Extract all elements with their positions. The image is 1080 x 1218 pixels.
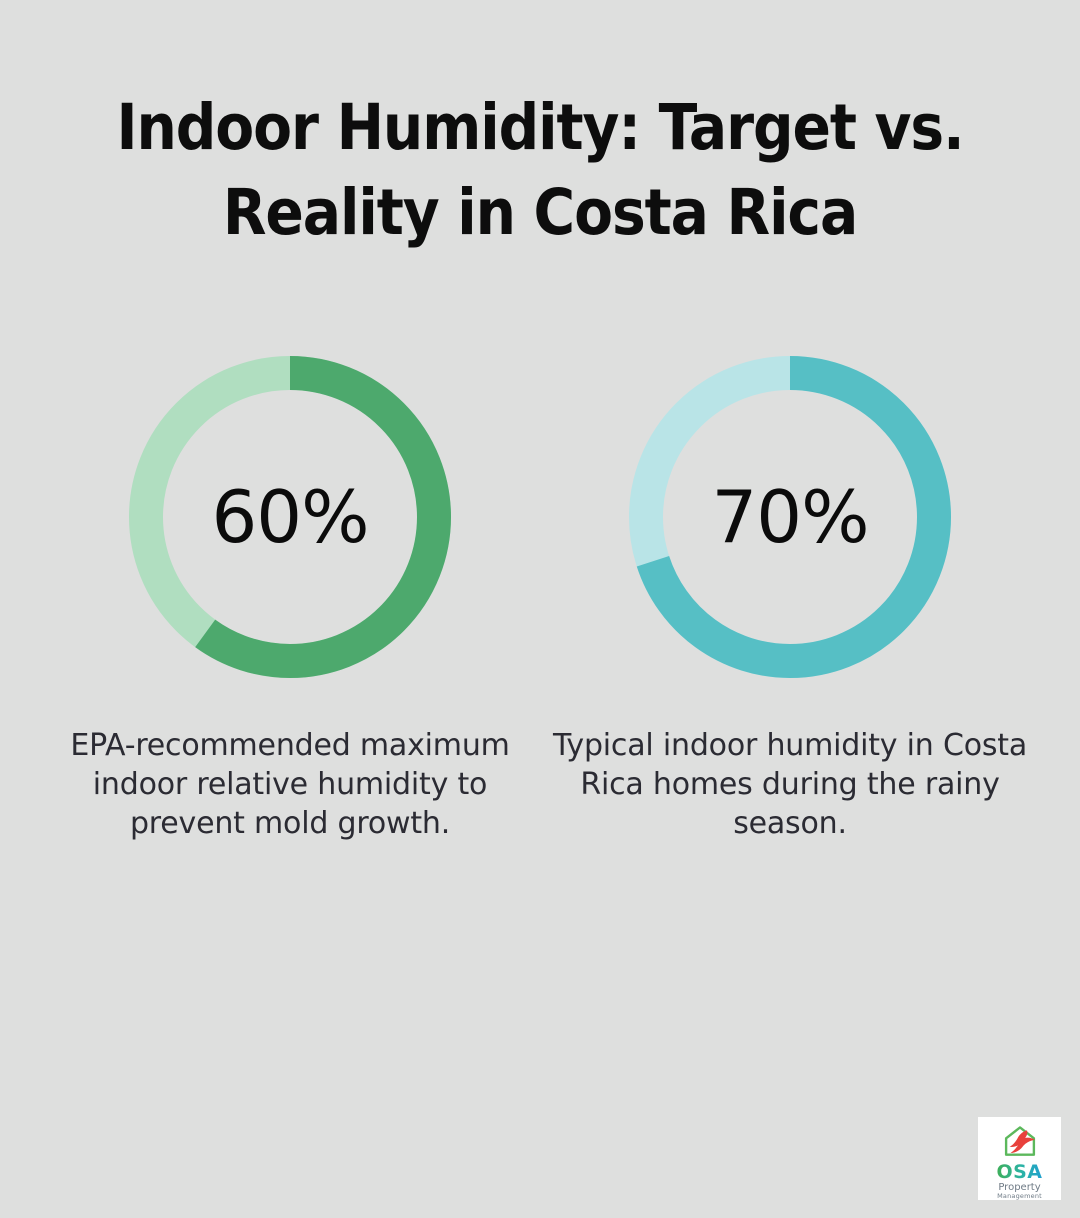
infographic-canvas: Indoor Humidity: Target vs. Reality in C…	[0, 0, 1080, 1218]
donut-chart-60: 60%	[125, 352, 455, 682]
donut-value-70: 70%	[625, 352, 955, 682]
page-title-line-2: Reality in Costa Rica	[90, 181, 990, 244]
stats-row: 60% EPA-recommended maximum indoor relat…	[0, 352, 1080, 843]
stat-caption-typical: Typical indoor humidity in Costa Rica ho…	[550, 726, 1030, 843]
bird-house-logo-icon	[997, 1122, 1043, 1162]
osa-property-management-logo: OSA Property Management	[978, 1117, 1061, 1200]
stat-caption-epa: EPA-recommended maximum indoor relative …	[60, 726, 520, 843]
logo-tagline-line-2: Management	[997, 1193, 1042, 1200]
logo-wordmark: OSA	[996, 1163, 1042, 1182]
donut-chart-70: 70%	[625, 352, 955, 682]
stat-card-epa-recommended: 60% EPA-recommended maximum indoor relat…	[40, 352, 540, 843]
donut-value-60: 60%	[125, 352, 455, 682]
stat-card-typical-costa-rica: 70% Typical indoor humidity in Costa Ric…	[540, 352, 1040, 843]
page-title: Indoor Humidity: Target vs. Reality in C…	[0, 96, 1080, 244]
page-title-line-1: Indoor Humidity: Target vs.	[90, 96, 990, 159]
